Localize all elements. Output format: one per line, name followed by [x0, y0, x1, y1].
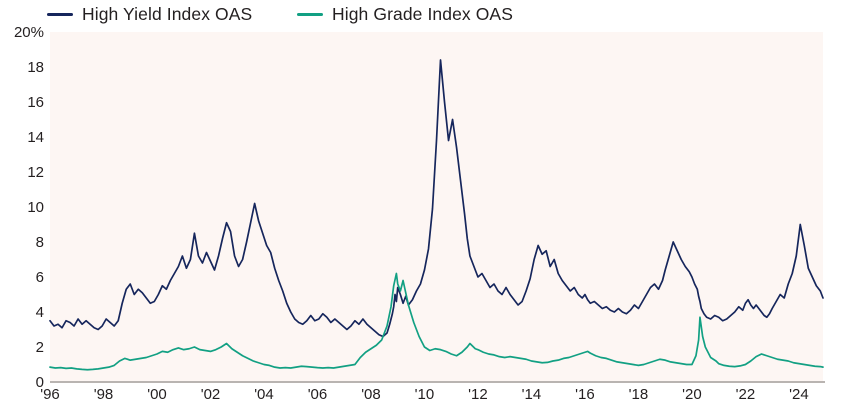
x-axis-tick-label: '10 — [415, 387, 435, 402]
x-axis-line — [50, 381, 825, 383]
legend-label-high-grade: High Grade Index OAS — [332, 4, 513, 25]
x-axis-tick-label: '04 — [254, 387, 274, 402]
line-high-yield — [50, 60, 823, 337]
y-axis-tick-label: 2 — [4, 340, 44, 355]
x-axis-tick-label: '98 — [94, 387, 114, 402]
y-axis-tick-label: 6 — [4, 270, 44, 285]
line-swatch-icon — [297, 13, 323, 16]
y-axis-tick-label: 8 — [4, 235, 44, 250]
x-axis-tick-label: '06 — [308, 387, 328, 402]
x-axis-tick-label: '22 — [736, 387, 756, 402]
legend-item-high-grade[interactable]: High Grade Index OAS — [297, 4, 513, 25]
legend-item-high-yield[interactable]: High Yield Index OAS — [47, 4, 252, 25]
x-axis-tick-label: '18 — [629, 387, 649, 402]
x-axis-tick-label: '20 — [682, 387, 702, 402]
y-axis-tick-label: 10 — [4, 200, 44, 215]
x-axis-tick-label: '16 — [575, 387, 595, 402]
y-axis-tick-label: 14 — [4, 130, 44, 145]
x-axis-tick-label: '96 — [40, 387, 60, 402]
y-axis-tick-label: 16 — [4, 95, 44, 110]
x-axis-tick-label: '24 — [789, 387, 809, 402]
y-axis-tick-label: 0 — [4, 375, 44, 390]
x-axis-tick-label: '08 — [361, 387, 381, 402]
series-plot — [50, 32, 823, 382]
y-axis-tick-label: 12 — [4, 165, 44, 180]
x-axis-tick-label: '02 — [201, 387, 221, 402]
legend-label-high-yield: High Yield Index OAS — [82, 4, 252, 25]
y-axis: 20%181614121086420 — [0, 0, 44, 411]
x-axis-tick-label: '14 — [522, 387, 542, 402]
chart-legend: High Yield Index OAS High Grade Index OA… — [0, 0, 845, 32]
x-axis-tick-label: '00 — [147, 387, 167, 402]
oas-spread-chart: High Yield Index OAS High Grade Index OA… — [0, 0, 845, 411]
y-axis-tick-label: 4 — [4, 305, 44, 320]
x-axis-tick-label: '12 — [468, 387, 488, 402]
line-swatch-icon — [47, 13, 73, 16]
y-axis-tick-label: 20% — [4, 25, 44, 40]
y-axis-tick-label: 18 — [4, 60, 44, 75]
